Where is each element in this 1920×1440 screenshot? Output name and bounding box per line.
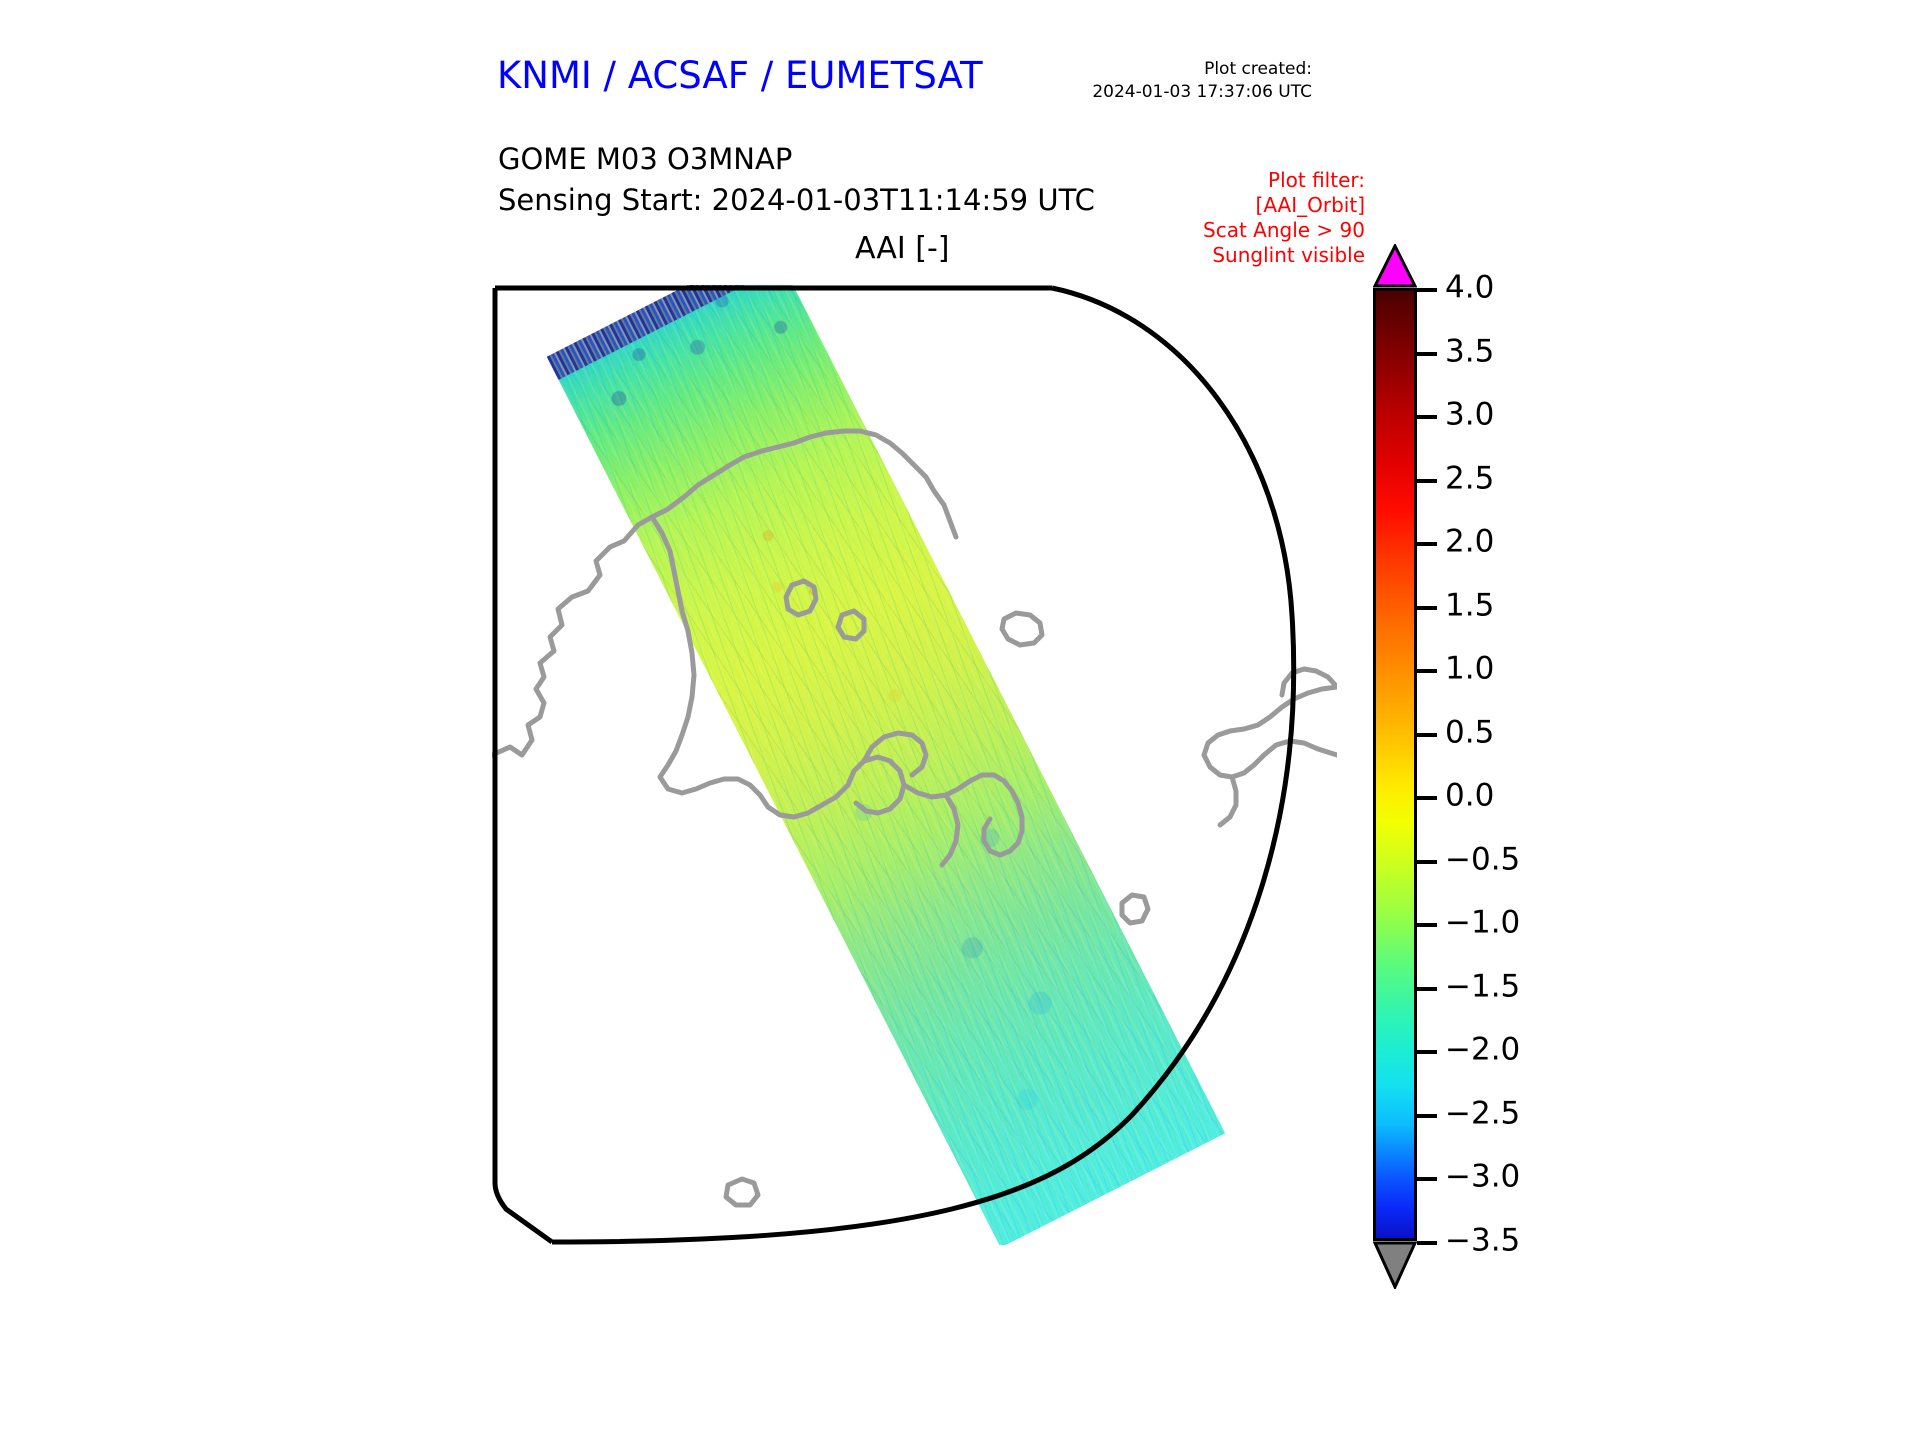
colorbar-tick (1417, 923, 1437, 927)
colorbar-tick-label: −1.5 (1445, 971, 1520, 1002)
colorbar-tick (1417, 796, 1437, 800)
colorbar-over-arrow (1373, 244, 1417, 288)
colorbar-tick-label: −2.5 (1445, 1098, 1520, 1129)
colorbar-under-arrow (1373, 1241, 1417, 1289)
colorbar-tick-label: −3.0 (1445, 1162, 1520, 1193)
plot-filter-scat-angle: Scat Angle > 90 (1050, 218, 1365, 243)
colorbar-tick-label: 2.5 (1445, 463, 1494, 494)
colorbar-tick-label: 3.5 (1445, 336, 1494, 367)
title-block: GOME M03 O3MNAP Sensing Start: 2024-01-0… (498, 139, 1095, 221)
plot-filter-dataset: [AAI_Orbit] (1050, 193, 1365, 218)
colorbar-tick-label: 1.0 (1445, 654, 1494, 685)
plot-created-timestamp: 2024-01-03 17:37:06 UTC (1082, 81, 1312, 104)
colorbar-tick (1417, 669, 1437, 673)
plot-filter-label: Plot filter: (1050, 168, 1365, 193)
colorbar-tick-label: −3.5 (1445, 1226, 1520, 1257)
colorbar-tick (1417, 1050, 1437, 1054)
colorbar-gradient (1373, 288, 1417, 1241)
colorbar-tick-label: 4.0 (1445, 273, 1494, 304)
plot-filter-block: Plot filter: [AAI_Orbit] Scat Angle > 90… (1050, 168, 1365, 268)
colorbar-tick (1417, 606, 1437, 610)
colorbar-tick-label: 0.0 (1445, 781, 1494, 812)
colorbar-tick-label: 1.5 (1445, 590, 1494, 621)
map-frame-border (492, 285, 1337, 1245)
colorbar-tick-label: −2.0 (1445, 1035, 1520, 1066)
colorbar-tick-label: 2.0 (1445, 527, 1494, 558)
plot-created-label: Plot created: (1204, 59, 1312, 79)
instrument-title: GOME M03 O3MNAP (498, 139, 1095, 180)
colorbar-tick (1417, 860, 1437, 864)
variable-title: AAI [-] (855, 231, 950, 266)
colorbar-tick (1417, 352, 1437, 356)
colorbar-tick (1417, 288, 1437, 292)
colorbar-tick (1417, 987, 1437, 991)
colorbar-tick (1417, 479, 1437, 483)
colorbar[interactable]: 4.03.53.02.52.01.51.00.50.0−0.5−1.0−1.5−… (1373, 288, 1417, 1241)
colorbar-tick-label: −0.5 (1445, 844, 1520, 875)
colorbar-tick (1417, 415, 1437, 419)
colorbar-tick-label: 3.0 (1445, 400, 1494, 431)
sensing-start-title: Sensing Start: 2024-01-03T11:14:59 UTC (498, 180, 1095, 221)
map-panel[interactable] (492, 285, 1337, 1245)
organisation-header: KNMI / ACSAF / EUMETSAT (497, 54, 983, 97)
plot-created-block: Plot created: 2024-01-03 17:37:06 UTC (1082, 58, 1312, 104)
colorbar-tick (1417, 542, 1437, 546)
colorbar-tick (1417, 1241, 1437, 1245)
plot-filter-sunglint: Sunglint visible (1050, 243, 1365, 268)
colorbar-tick (1417, 1114, 1437, 1118)
colorbar-tick-label: −1.0 (1445, 908, 1520, 939)
colorbar-tick-label: 0.5 (1445, 717, 1494, 748)
colorbar-tick (1417, 733, 1437, 737)
colorbar-tick (1417, 1177, 1437, 1181)
